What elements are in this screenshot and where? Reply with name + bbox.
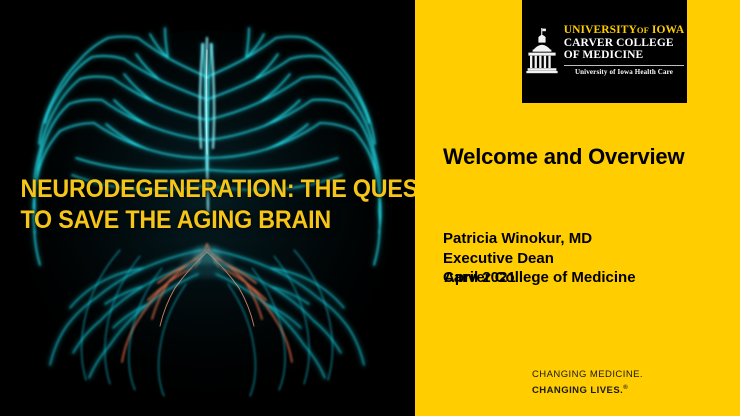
- speaker-name: Patricia Winokur, MD: [443, 229, 733, 249]
- title-line-1: NEURODEGENERATION: THE QUEST: [0, 174, 386, 205]
- logo-line-university: UNIVERSITYOF IOWA: [564, 24, 685, 37]
- presentation-slide: NEURODEGENERATION: THE QUEST TO SAVE THE…: [0, 0, 740, 416]
- old-capitol-icon: [525, 28, 559, 74]
- logo-line-carver-college: CARVER COLLEGE: [564, 37, 685, 50]
- title-line-2: TO SAVE THE AGING BRAIN: [0, 205, 386, 236]
- logo-line-health-care: University of Iowa Health Care: [564, 68, 685, 77]
- content-panel: UNIVERSITYOF IOWA CARVER COLLEGE OF MEDI…: [415, 0, 740, 416]
- tagline-line-2: CHANGING LIVES.®: [532, 382, 643, 398]
- speaker-role: Executive Dean: [443, 249, 733, 269]
- tagline-line-1: CHANGING MEDICINE.: [532, 369, 643, 382]
- university-logo-box: UNIVERSITYOF IOWA CARVER COLLEGE OF MEDI…: [522, 0, 687, 103]
- logo-wordmark: UNIVERSITYOF IOWA CARVER COLLEGE OF MEDI…: [564, 24, 685, 77]
- logo-divider: [564, 65, 685, 66]
- speaker-block: Patricia Winokur, MD Executive Dean Apri…: [443, 229, 733, 288]
- speaker-affiliation: Carver College of Medicine: [443, 268, 636, 288]
- page-title: Welcome and Overview: [443, 143, 723, 170]
- brand-tagline: CHANGING MEDICINE. CHANGING LIVES.®: [532, 369, 643, 397]
- registered-trademark-icon: ®: [623, 385, 628, 391]
- brain-image-panel: NEURODEGENERATION: THE QUEST TO SAVE THE…: [0, 0, 415, 416]
- logo-line-of-medicine: OF MEDICINE: [564, 49, 685, 62]
- affiliation-and-date-overlap: April 2021 Carver College of Medicine: [443, 268, 733, 288]
- slide-title-overlay: NEURODEGENERATION: THE QUEST TO SAVE THE…: [0, 172, 415, 240]
